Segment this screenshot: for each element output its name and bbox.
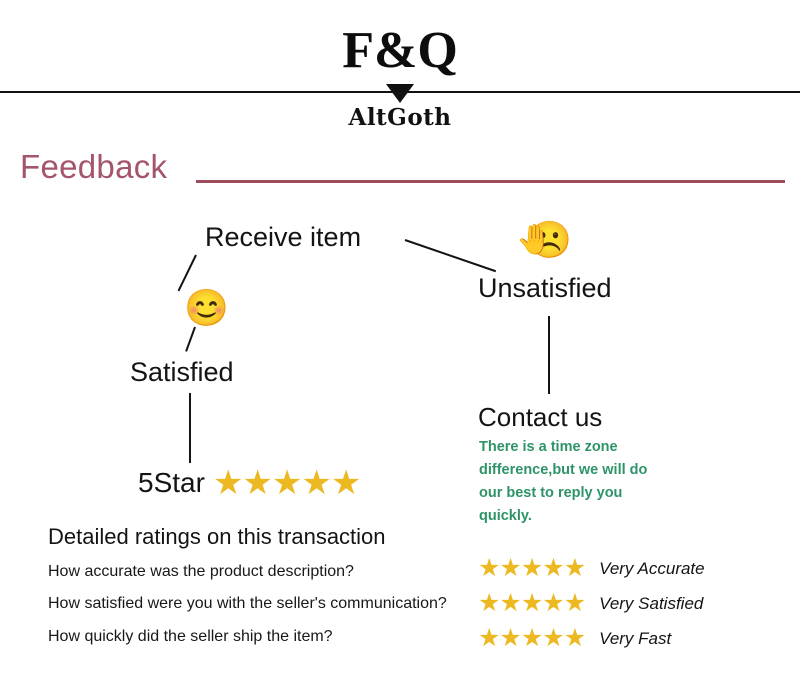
rating-stars: ★★★★★	[478, 626, 585, 651]
rating-row-label: Very Accurate	[599, 559, 705, 579]
star-icon: ★	[542, 626, 563, 651]
star-icon: ★	[301, 466, 330, 500]
rating-row: ★★★★★ Very Fast	[478, 626, 671, 651]
star-icon: ★	[213, 466, 242, 500]
rating-row: ★★★★★ Very Accurate	[478, 556, 705, 581]
five-star-row: 5Star ★★★★★	[138, 466, 360, 500]
five-star-stars: ★★★★★	[213, 466, 360, 500]
star-icon: ★	[521, 556, 542, 581]
rating-question: How accurate was the product description…	[48, 563, 354, 581]
star-icon: ★	[564, 591, 585, 616]
flow-node-satisfied: Satisfied	[130, 357, 234, 388]
five-star-label: 5Star	[138, 467, 205, 499]
connector-receive-to-unsatisfied	[405, 239, 496, 272]
connector-emoji-to-satisfied	[185, 327, 196, 352]
contact-note-text: There is a time zone difference,but we w…	[479, 436, 664, 528]
star-icon: ★	[272, 466, 301, 500]
flow-node-receive-item: Receive item	[205, 222, 361, 253]
connector-satisfied-to-fivestar	[189, 393, 191, 463]
flow-node-unsatisfied: Unsatisfied	[478, 273, 612, 304]
feedback-heading: Feedback	[20, 148, 167, 186]
rating-row-label: Very Fast	[599, 629, 671, 649]
feedback-divider	[196, 180, 785, 183]
raised-hand-icon: 🤚	[516, 226, 552, 255]
faq-feedback-page: F&Q AltGoth Feedback Receive item Unsati…	[0, 0, 800, 680]
flow-node-contact-us: Contact us	[478, 402, 602, 433]
star-icon: ★	[499, 556, 520, 581]
connector-unsatisfied-to-contact	[548, 316, 550, 394]
star-icon: ★	[564, 556, 585, 581]
rating-row-label: Very Satisfied	[599, 594, 703, 614]
star-icon: ★	[521, 591, 542, 616]
star-icon: ★	[499, 591, 520, 616]
rating-row: ★★★★★ Very Satisfied	[478, 591, 703, 616]
brand-name: AltGoth	[0, 104, 800, 131]
rating-question: How quickly did the seller ship the item…	[48, 628, 333, 646]
page-title: F&Q	[0, 22, 800, 80]
detailed-ratings-title: Detailed ratings on this transaction	[48, 524, 386, 550]
star-icon: ★	[331, 466, 360, 500]
star-icon: ★	[564, 626, 585, 651]
rating-question: How satisfied were you with the seller's…	[48, 595, 447, 613]
star-icon: ★	[242, 466, 271, 500]
connector-receive-to-satisfied	[178, 255, 197, 292]
star-icon: ★	[542, 591, 563, 616]
star-icon: ★	[542, 556, 563, 581]
star-icon: ★	[521, 626, 542, 651]
star-icon: ★	[478, 556, 499, 581]
rating-stars: ★★★★★	[478, 591, 585, 616]
star-icon: ★	[478, 626, 499, 651]
rating-stars: ★★★★★	[478, 556, 585, 581]
triangle-down-icon	[386, 84, 414, 103]
star-icon: ★	[478, 591, 499, 616]
star-icon: ★	[499, 626, 520, 651]
smiling-face-icon: 😊	[184, 290, 229, 326]
